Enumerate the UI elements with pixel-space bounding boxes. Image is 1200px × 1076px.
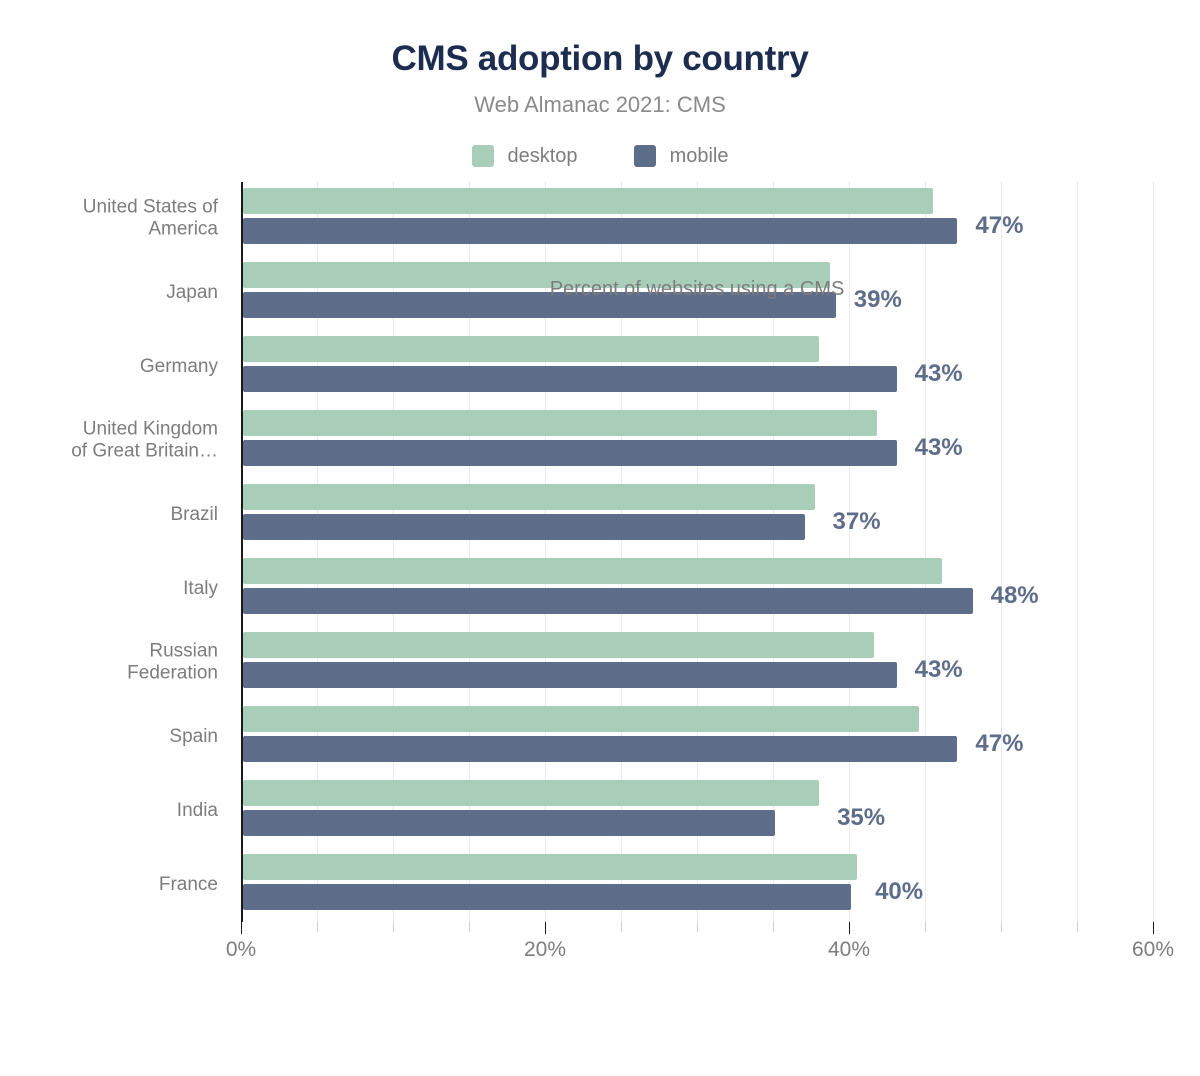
x-axis-tick xyxy=(317,922,318,932)
legend-item-mobile[interactable]: mobile xyxy=(634,145,729,168)
bar-desktop[interactable] xyxy=(243,632,874,658)
bar-row: Italy48% xyxy=(0,552,1200,626)
y-axis-label: Spain xyxy=(0,725,218,747)
bar-desktop[interactable] xyxy=(243,336,819,362)
bar-row: India35% xyxy=(0,774,1200,848)
y-axis-label: United Kingdom of Great Britain… xyxy=(0,418,218,463)
bar-group: 43% xyxy=(243,626,1200,700)
bar-group: 43% xyxy=(243,404,1200,478)
bar-desktop[interactable] xyxy=(243,188,933,214)
bar-mobile[interactable] xyxy=(243,810,775,836)
y-axis-label: Brazil xyxy=(0,503,218,525)
bar-value-label: 47% xyxy=(975,730,1023,758)
x-axis-tick xyxy=(1153,922,1154,934)
y-axis-label: Japan xyxy=(0,281,218,303)
bar-mobile[interactable] xyxy=(243,514,805,540)
chart-title: CMS adoption by country xyxy=(0,40,1200,79)
legend-item-desktop[interactable]: desktop xyxy=(472,145,578,168)
bar-value-label: 40% xyxy=(875,878,923,906)
bar-value-label: 37% xyxy=(833,508,881,536)
legend-label: desktop xyxy=(508,145,578,168)
bar-row: United Kingdom of Great Britain…43% xyxy=(0,404,1200,478)
x-axis-tick-label: 20% xyxy=(524,938,566,962)
bar-desktop[interactable] xyxy=(243,854,857,880)
x-axis-tick xyxy=(469,922,470,932)
bar-group: 43% xyxy=(243,330,1200,404)
bar-row: Germany43% xyxy=(0,330,1200,404)
legend-swatch-desktop xyxy=(472,145,494,167)
bar-group: 35% xyxy=(243,774,1200,848)
y-axis-label: India xyxy=(0,799,218,821)
bar-value-label: 47% xyxy=(975,212,1023,240)
x-axis-tick xyxy=(773,922,774,932)
y-axis-label: Italy xyxy=(0,577,218,599)
plot-area: United States of America47%Japan39%Germa… xyxy=(0,182,1200,922)
bar-mobile[interactable] xyxy=(243,662,897,688)
x-axis-tick-label: 40% xyxy=(828,938,870,962)
bar-mobile[interactable] xyxy=(243,366,897,392)
bar-desktop[interactable] xyxy=(243,780,819,806)
bar-group: 48% xyxy=(243,552,1200,626)
x-axis-tick xyxy=(1001,922,1002,932)
legend-label: mobile xyxy=(670,145,729,168)
x-axis-tick xyxy=(1077,922,1078,932)
bar-row: France40% xyxy=(0,848,1200,922)
bar-desktop[interactable] xyxy=(243,410,877,436)
y-axis-label: Germany xyxy=(0,355,218,377)
x-axis-tick xyxy=(393,922,394,932)
bar-value-label: 43% xyxy=(915,656,963,684)
x-axis-tick xyxy=(849,922,850,934)
y-axis-label: France xyxy=(0,873,218,895)
x-axis-tick xyxy=(621,922,622,932)
bar-row: Russian Federation43% xyxy=(0,626,1200,700)
bar-row: United States of America47% xyxy=(0,182,1200,256)
chart-header: CMS adoption by country Web Almanac 2021… xyxy=(0,0,1200,117)
bar-mobile[interactable] xyxy=(243,218,957,244)
chart-legend: desktopmobile xyxy=(0,145,1200,168)
bar-value-label: 48% xyxy=(991,582,1039,610)
chart-subtitle: Web Almanac 2021: CMS xyxy=(0,93,1200,117)
y-axis-label: Russian Federation xyxy=(0,640,218,685)
bar-group: 47% xyxy=(243,700,1200,774)
bar-mobile[interactable] xyxy=(243,884,851,910)
x-axis-tick-label: 60% xyxy=(1132,938,1174,962)
legend-swatch-mobile xyxy=(634,145,656,167)
bar-row: Brazil37% xyxy=(0,478,1200,552)
bar-group: 47% xyxy=(243,182,1200,256)
bar-mobile[interactable] xyxy=(243,440,897,466)
x-axis-tick xyxy=(697,922,698,932)
bar-value-label: 43% xyxy=(915,360,963,388)
bar-row: Spain47% xyxy=(0,700,1200,774)
bar-desktop[interactable] xyxy=(243,706,919,732)
x-axis: 0%20%40%60% xyxy=(241,922,1153,972)
y-axis-label: United States of America xyxy=(0,196,218,241)
bar-desktop[interactable] xyxy=(243,558,942,584)
bar-value-label: 43% xyxy=(915,434,963,462)
x-axis-tick xyxy=(545,922,546,934)
bar-group: 37% xyxy=(243,478,1200,552)
bar-value-label: 35% xyxy=(837,804,885,832)
bar-mobile[interactable] xyxy=(243,588,973,614)
x-axis-title: Percent of websites using a CMS xyxy=(241,278,1153,301)
bar-mobile[interactable] xyxy=(243,736,957,762)
bar-group: 40% xyxy=(243,848,1200,922)
x-axis-tick xyxy=(925,922,926,932)
x-axis-tick xyxy=(241,922,242,934)
bar-desktop[interactable] xyxy=(243,484,815,510)
x-axis-tick-label: 0% xyxy=(226,938,256,962)
